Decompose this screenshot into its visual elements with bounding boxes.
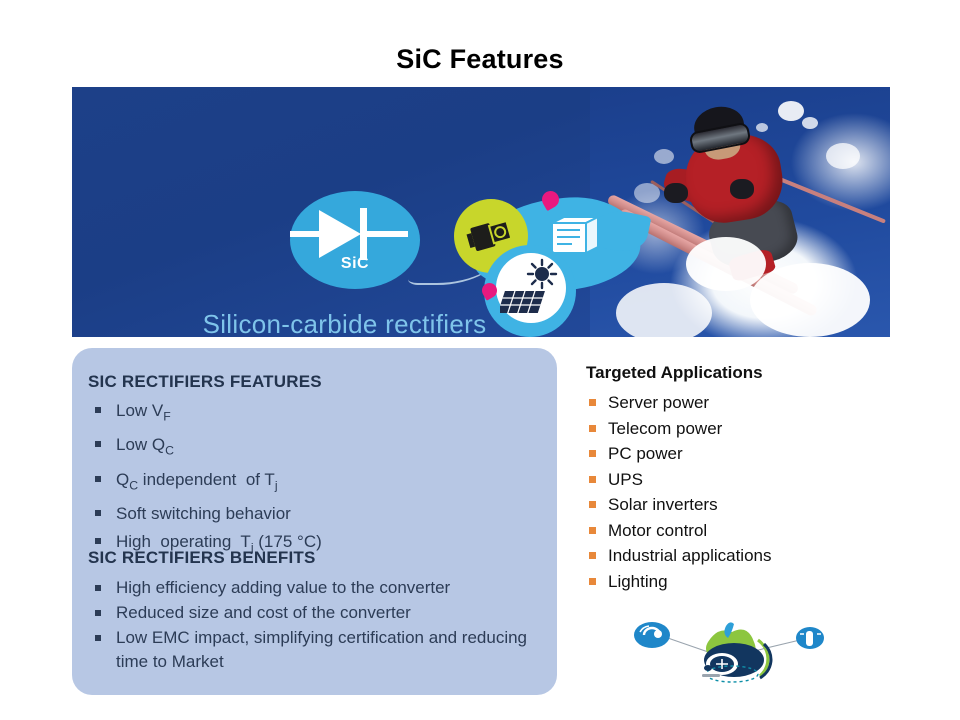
list-item: Low VF xyxy=(92,398,532,429)
logo-link-line xyxy=(662,636,714,654)
list-item: Low QC xyxy=(92,432,532,463)
application-label: Lighting xyxy=(608,572,668,591)
diode-triangle-icon xyxy=(319,210,361,258)
list-item: High efficiency adding value to the conv… xyxy=(92,576,542,600)
snow-spray xyxy=(750,263,870,337)
application-label: Motor control xyxy=(608,521,707,540)
list-item: UPS xyxy=(588,467,888,493)
application-label: Solar inverters xyxy=(608,495,718,514)
list-item: Server power xyxy=(588,390,888,416)
features-heading: SIC RECTIFIERS FEATURES xyxy=(88,372,322,392)
list-item: Telecom power xyxy=(588,416,888,442)
benefit-text: Reduced size and cost of the converter xyxy=(116,603,411,622)
application-label: Telecom power xyxy=(608,419,722,438)
list-item: Reduced size and cost of the converter xyxy=(92,601,542,625)
skier-glove xyxy=(664,183,688,203)
application-label: PC power xyxy=(608,444,683,463)
list-item: Solar inverters xyxy=(588,492,888,518)
diode-lead-left xyxy=(290,231,322,237)
logo-center-cluster xyxy=(702,622,771,682)
list-item: Low EMC impact, simplifying certificatio… xyxy=(92,626,542,674)
list-item: Motor control xyxy=(588,518,888,544)
applications-list: Server power Telecom power PC power UPS … xyxy=(588,390,888,594)
applications-title: Targeted Applications xyxy=(586,363,763,383)
list-item: Soft switching behavior xyxy=(92,501,532,526)
feature-text: Low VF xyxy=(116,401,171,420)
list-item: Industrial applications xyxy=(588,543,888,569)
benefits-list: High efficiency adding value to the conv… xyxy=(92,576,542,675)
features-benefits-panel: SIC RECTIFIERS FEATURES Low VF Low QC QC… xyxy=(72,348,557,695)
features-list: Low VF Low QC QC independent of Tj Soft … xyxy=(92,398,532,564)
logo-node-right xyxy=(796,627,824,649)
hero-banner: SiC xyxy=(72,87,890,337)
application-label: Server power xyxy=(608,393,709,412)
banner-caption-main: Silicon-carbide rectifiers xyxy=(72,309,617,337)
application-label: UPS xyxy=(608,470,643,489)
snow-spray xyxy=(686,237,766,291)
application-label: Industrial applications xyxy=(608,546,771,565)
list-item: QC independent of Tj xyxy=(92,467,532,498)
snow-spray xyxy=(616,283,712,337)
benefit-text: High efficiency adding value to the conv… xyxy=(116,578,450,597)
connected-world-logo xyxy=(622,608,832,694)
snow-particle xyxy=(826,143,860,169)
skier-photo xyxy=(590,87,890,337)
snow-particle xyxy=(778,101,804,121)
feature-text: Low QC xyxy=(116,435,174,454)
list-item: PC power xyxy=(588,441,888,467)
benefits-heading: SIC RECTIFIERS BENEFITS xyxy=(88,548,316,568)
logo-node-left xyxy=(634,622,670,648)
skier-glove xyxy=(730,179,754,199)
sic-label: SiC xyxy=(290,255,420,273)
feature-text: Soft switching behavior xyxy=(116,504,291,523)
diode-lead-right xyxy=(366,231,408,237)
list-item: Lighting xyxy=(588,569,888,595)
page-title: SiC Features xyxy=(0,44,960,75)
snow-particle xyxy=(802,117,818,129)
feature-text: QC independent of Tj xyxy=(116,470,278,489)
snow-particle xyxy=(654,149,674,164)
benefit-text: Low EMC impact, simplifying certificatio… xyxy=(116,628,527,671)
snow-particle xyxy=(756,123,768,132)
